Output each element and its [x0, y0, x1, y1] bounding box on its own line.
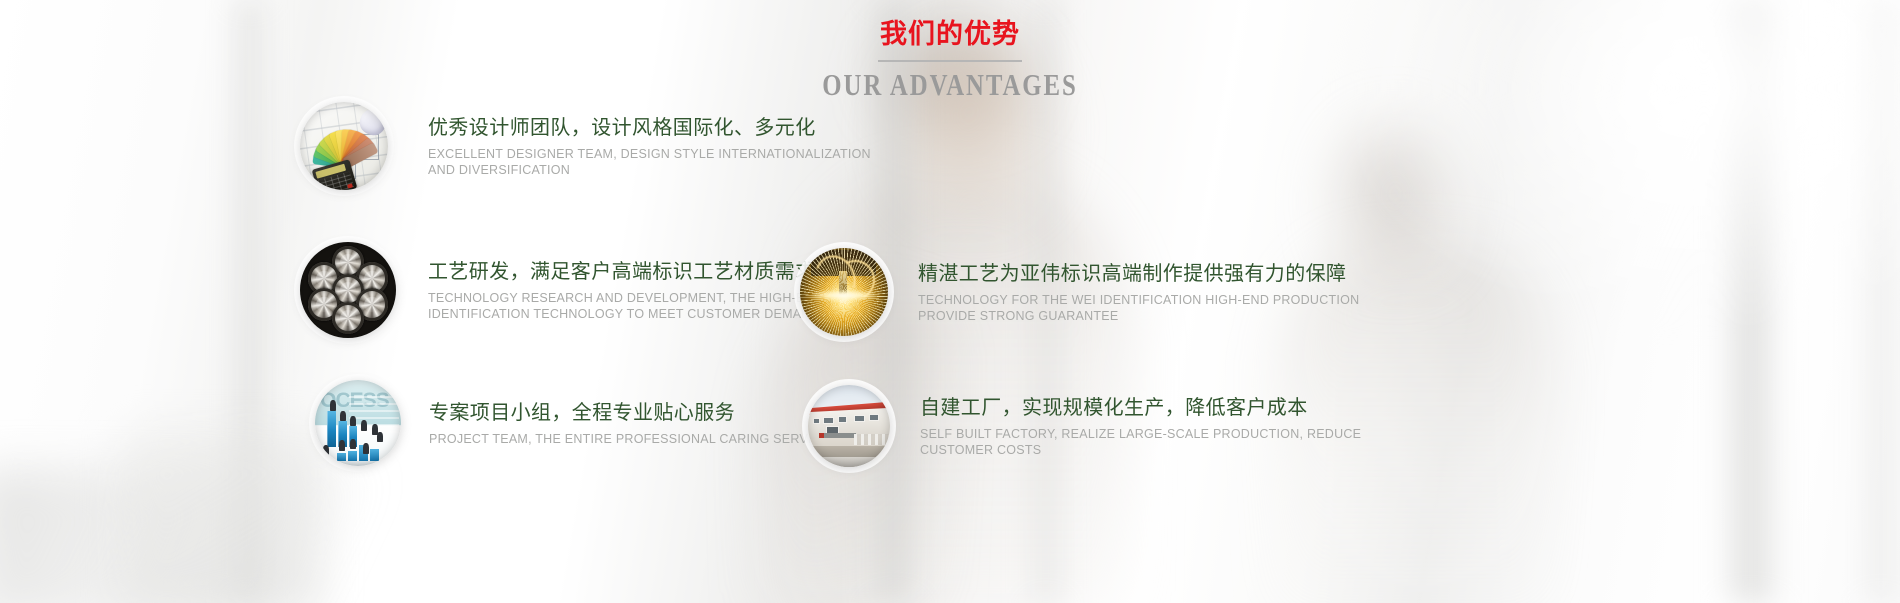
metal-tubes-icon — [300, 242, 396, 338]
business-chart-team-icon: OCESS — [315, 380, 401, 466]
page-title: 我们的优势 — [0, 18, 1900, 52]
feature-subtitle: TECHNOLOGY FOR THE WEI IDENTIFICATION HI… — [918, 293, 1359, 324]
feature-item-designer-team[interactable]: 优秀设计师团队，设计风格国际化、多元化 EXCELLENT DESIGNER T… — [300, 102, 871, 190]
feature-subtitle: PROJECT TEAM, THE ENTIRE PROFESSIONAL CA… — [429, 432, 838, 448]
feature-text: 优秀设计师团队，设计风格国际化、多元化 EXCELLENT DESIGNER T… — [388, 114, 871, 178]
feature-thumbnail-wrap — [300, 242, 396, 338]
feature-text: 专案项目小组，全程专业贴心服务 PROJECT TEAM, THE ENTIRE… — [401, 399, 838, 448]
feature-title: 专案项目小组，全程专业贴心服务 — [429, 399, 838, 425]
title-divider — [878, 60, 1022, 62]
blurred-desk — [0, 470, 410, 603]
feature-subtitle: EXCELLENT DESIGNER TEAM, DESIGN STYLE IN… — [428, 147, 871, 178]
feature-text: 自建工厂，实现规模化生产，降低客户成本 SELF BUILT FACTORY, … — [890, 394, 1361, 458]
feature-subtitle: SELF BUILT FACTORY, REALIZE LARGE-SCALE … — [920, 427, 1361, 458]
feature-text: 精湛工艺为亚伟标识高端制作提供强有力的保障 TECHNOLOGY FOR THE… — [888, 260, 1359, 324]
feature-thumbnail-wrap — [800, 248, 888, 336]
feature-title: 精湛工艺为亚伟标识高端制作提供强有力的保障 — [918, 260, 1359, 286]
color-swatch-blueprint-icon — [300, 102, 388, 190]
feature-thumbnail-wrap: OCESS — [315, 380, 401, 466]
feature-title: 优秀设计师团队，设计风格国际化、多元化 — [428, 114, 871, 140]
feature-title: 自建工厂，实现规模化生产，降低客户成本 — [920, 394, 1361, 420]
feature-thumbnail-wrap — [300, 102, 388, 190]
feature-item-project-team[interactable]: OCESS — [315, 380, 838, 466]
blurred-monitor — [120, 430, 320, 603]
factory-building-icon — [808, 385, 890, 467]
feature-thumbnail-wrap — [808, 385, 890, 467]
section-heading: 我们的优势 OUR ADVANTAGES — [0, 18, 1900, 104]
page-subtitle: OUR ADVANTAGES — [190, 66, 1710, 104]
welding-sparks-icon — [800, 248, 888, 336]
advantages-banner: 我们的优势 OUR ADVANTAGES — [0, 0, 1900, 603]
feature-item-self-built-factory[interactable]: 自建工厂，实现规模化生产，降低客户成本 SELF BUILT FACTORY, … — [808, 385, 1361, 467]
feature-item-craftsmanship-guarantee[interactable]: 精湛工艺为亚伟标识高端制作提供强有力的保障 TECHNOLOGY FOR THE… — [800, 248, 1359, 336]
